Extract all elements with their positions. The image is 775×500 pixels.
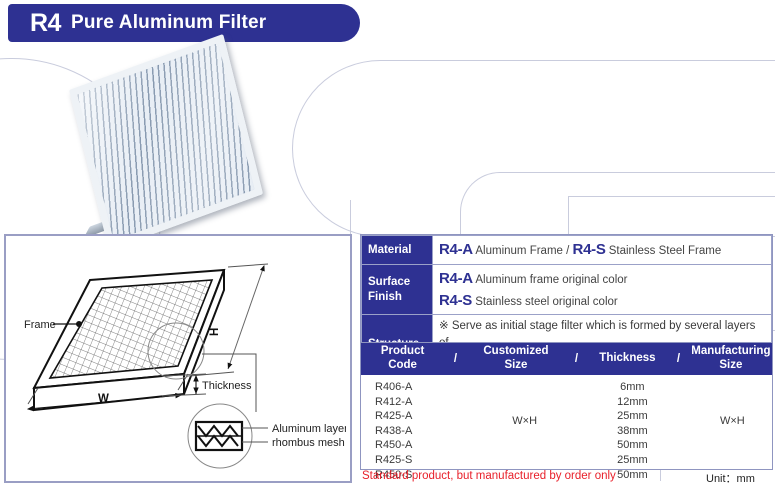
surface-label-line1: Surface	[368, 276, 410, 288]
column-customized-size: W×H	[477, 375, 572, 467]
spec-row-material: Material R4-A Aluminum Frame / R4-S Stai…	[362, 236, 772, 265]
header-separator-2: /	[565, 353, 588, 365]
order-note: Standard product, but manufactured by or…	[362, 470, 616, 482]
material-text-a: Aluminum Frame	[475, 245, 563, 257]
thickness-cell: 6mm	[620, 380, 644, 395]
header-customized-line1: Customized	[483, 345, 548, 357]
thickness-cell: 25mm	[617, 409, 648, 424]
header-product-code-line2: Code	[388, 359, 417, 371]
product-code-cell: R412-A	[375, 395, 455, 410]
technical-diagram-panel: Frame W H Thickness Aluminum layers rhom…	[4, 234, 352, 483]
product-code-cell: R450-A	[375, 438, 455, 453]
product-photo-panel	[69, 34, 263, 250]
product-code-table: Product Code / Customized Size / Thickne…	[360, 342, 773, 470]
product-code-cell: R438-A	[375, 424, 455, 439]
header-product-code-line1: Product	[381, 345, 424, 357]
surface-code-a: R4-A	[439, 270, 473, 287]
spec-label-surface-finish: Surface Finish	[362, 264, 433, 315]
spec-label-material: Material	[362, 236, 433, 265]
thickness-cell: 50mm	[617, 438, 648, 453]
header-product-code: Product Code	[361, 345, 444, 373]
header-customized-size: Customized Size	[467, 345, 565, 373]
header-separator-1: /	[444, 353, 467, 365]
product-code-cell: R425-S	[375, 453, 455, 468]
product-table-body: R406-AR412-AR425-AR438-AR450-AR425-SR450…	[361, 375, 772, 467]
product-code-cell: R425-A	[375, 409, 455, 424]
diagram-mesh-label-line1: Aluminum layers	[272, 423, 346, 435]
surface-label-line2: Finish	[368, 291, 402, 303]
column-thickness-values: 6mm12mm25mm38mm50mm25mm50mm	[594, 375, 671, 467]
diagram-height-label: H	[209, 328, 221, 336]
thickness-cell: 25mm	[617, 453, 648, 468]
header-customized-line2: Size	[504, 359, 527, 371]
product-photo-sheen	[77, 43, 254, 241]
product-table-header-row: Product Code / Customized Size / Thickne…	[361, 343, 772, 375]
header-manufacturing-line2: Size	[719, 359, 742, 371]
thickness-cell: 50mm	[617, 468, 648, 483]
surface-code-s: R4-S	[439, 292, 472, 309]
product-photo	[70, 52, 270, 227]
material-code-a: R4-A	[439, 241, 473, 258]
column-product-codes: R406-AR412-AR425-AR438-AR450-AR425-SR450…	[361, 375, 455, 467]
product-code: R4	[30, 9, 61, 38]
header-separator-3: /	[667, 353, 690, 365]
thickness-cell: 12mm	[617, 395, 648, 410]
column-manufacturing-size: W×H	[693, 375, 772, 467]
page-header-banner: R4 Pure Aluminum Filter	[8, 4, 360, 42]
thickness-cell: 38mm	[617, 424, 648, 439]
surface-text-a: Aluminum frame original color	[475, 274, 627, 286]
diagram-width-label: W	[98, 393, 109, 405]
surface-line-s: R4-S Stainless steel original color	[439, 290, 765, 312]
product-code-cell: R406-A	[375, 380, 455, 395]
diagram-mesh-label-line2: rhombus mesh	[272, 437, 345, 449]
surface-text-s: Stainless steel original color	[475, 296, 618, 308]
technical-diagram-svg: Frame W H Thickness Aluminum layers rhom…	[6, 236, 346, 477]
spec-row-surface-finish: Surface Finish R4-A Aluminum frame origi…	[362, 264, 772, 315]
manufacturing-size-value: W×H	[720, 415, 745, 427]
material-separator: /	[566, 245, 569, 257]
spec-value-material: R4-A Aluminum Frame / R4-S Stainless Ste…	[433, 236, 772, 265]
spec-value-surface-finish: R4-A Aluminum frame original color R4-S …	[433, 264, 772, 315]
header-manufacturing-size: Manufacturing Size	[690, 345, 772, 373]
header-manufacturing-line1: Manufacturing	[691, 345, 770, 357]
surface-line-a: R4-A Aluminum frame original color	[439, 268, 765, 290]
diagram-thickness-label: Thickness	[202, 380, 252, 392]
customized-size-value: W×H	[512, 415, 537, 427]
diagram-frame-label: Frame	[24, 319, 56, 331]
material-code-s: R4-S	[573, 241, 606, 258]
material-text-s: Stainless Steel Frame	[609, 245, 722, 257]
header-thickness: Thickness	[588, 352, 667, 366]
page-title: Pure Aluminum Filter	[71, 12, 266, 34]
unit-note: Unit：mm	[706, 470, 755, 486]
